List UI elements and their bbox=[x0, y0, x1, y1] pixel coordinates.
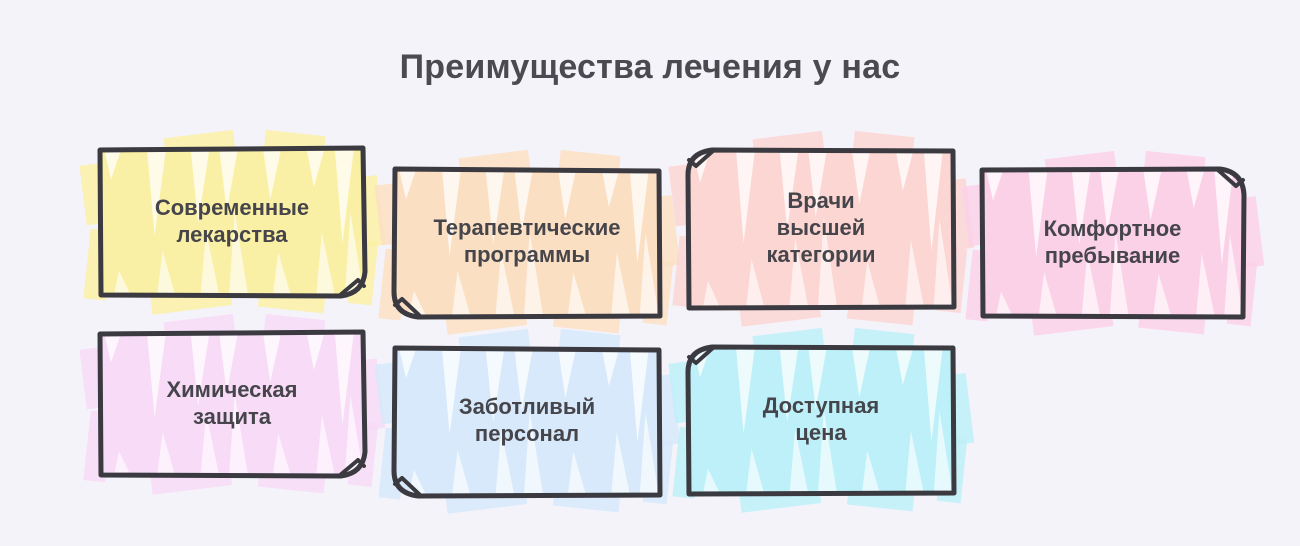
benefit-card-therapy-programs[interactable]: Терапевтическиепрограммы bbox=[392, 166, 662, 318]
benefit-card-modern-medicines[interactable]: Современныелекарства bbox=[97, 146, 367, 298]
card-shape bbox=[392, 345, 662, 497]
card-shape bbox=[979, 167, 1246, 319]
card-shape bbox=[686, 344, 956, 496]
benefit-card-comfortable-stay[interactable]: Комфортноепребывание bbox=[979, 167, 1246, 319]
card-shape bbox=[97, 146, 367, 298]
benefits-infographic: Преимущества лечения у нас Современныеле… bbox=[0, 0, 1300, 546]
page-title: Преимущества лечения у нас bbox=[0, 48, 1300, 87]
benefit-card-affordable-price[interactable]: Доступнаяцена bbox=[686, 344, 956, 496]
card-shape bbox=[392, 166, 662, 318]
benefit-card-top-category-doctors[interactable]: Врачивысшейкатегории bbox=[686, 147, 956, 310]
card-shape bbox=[686, 147, 956, 310]
benefit-card-caring-staff[interactable]: Заботливыйперсонал bbox=[392, 345, 662, 497]
benefit-card-chemical-protection[interactable]: Химическаязащита bbox=[97, 330, 367, 478]
card-shape bbox=[97, 330, 367, 478]
